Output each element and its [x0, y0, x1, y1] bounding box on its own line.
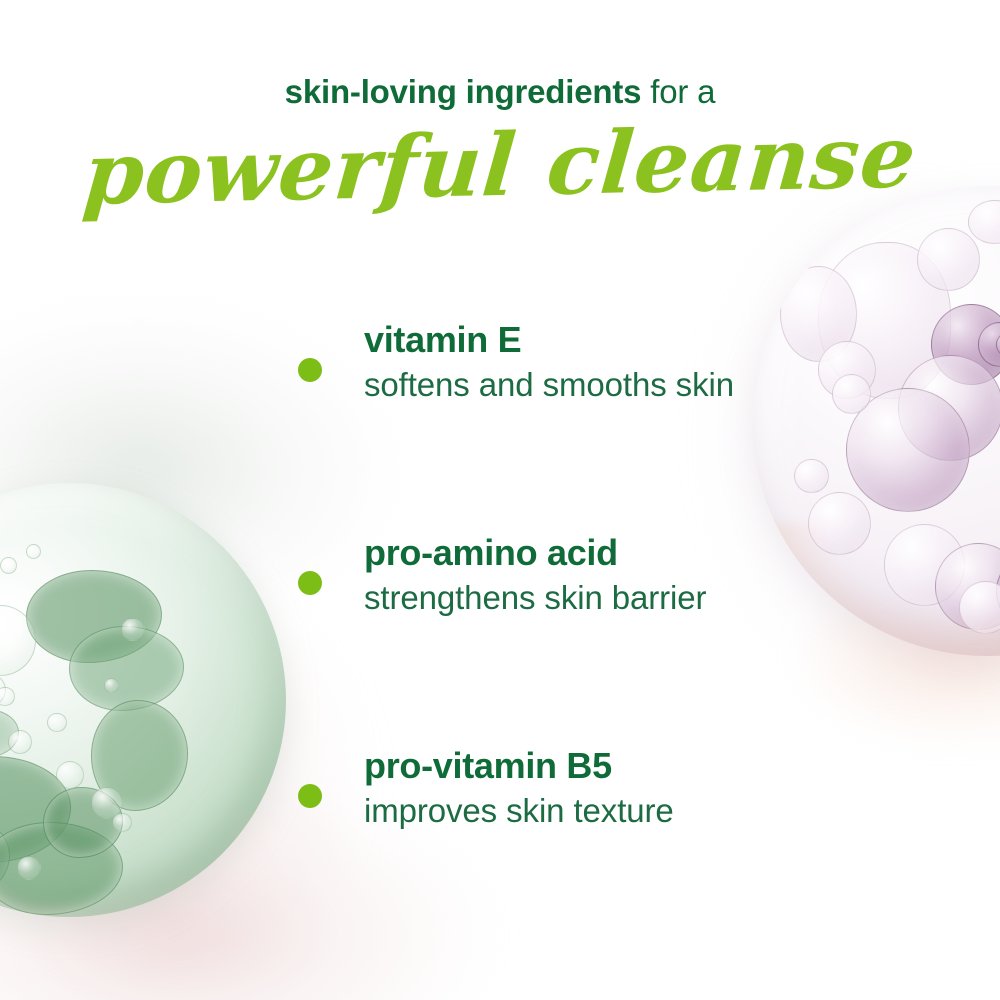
ingredient-description: improves skin texture	[364, 790, 818, 832]
ingredient-text-group: pro-amino acid strengthens skin barrier	[364, 531, 818, 619]
list-item: pro-vitamin B5 improves skin texture	[298, 744, 818, 852]
headline-strong-text: skin-loving ingredients	[285, 73, 642, 110]
headline-script-text: powerful cleanse	[0, 108, 1000, 225]
bullet-dot-icon	[298, 358, 322, 382]
product-ingredient-infographic: skin-loving ingredients for a powerful c…	[0, 0, 1000, 1000]
ingredient-text-group: vitamin E softens and smooths skin	[364, 318, 818, 406]
ingredient-text-group: pro-vitamin B5 improves skin texture	[364, 744, 818, 832]
list-item: pro-amino acid strengthens skin barrier	[298, 531, 818, 639]
green-gel-sphere-image	[0, 483, 286, 917]
ingredient-name: vitamin E	[364, 318, 818, 362]
green-sphere-warm-rim	[0, 813, 286, 917]
ingredient-list: vitamin E softens and smooths skin pro-a…	[298, 318, 818, 852]
ingredient-description: softens and smooths skin	[364, 364, 818, 406]
headline-light-text: for a	[641, 73, 715, 110]
ingredient-name: pro-vitamin B5	[364, 744, 818, 788]
headline-line-one: skin-loving ingredients for a	[0, 72, 1000, 112]
headline-block: skin-loving ingredients for a powerful c…	[0, 72, 1000, 214]
bullet-dot-icon	[298, 784, 322, 808]
ingredient-description: strengthens skin barrier	[364, 577, 818, 619]
ingredient-name: pro-amino acid	[364, 531, 818, 575]
bullet-dot-icon	[298, 571, 322, 595]
list-item: vitamin E softens and smooths skin	[298, 318, 818, 426]
